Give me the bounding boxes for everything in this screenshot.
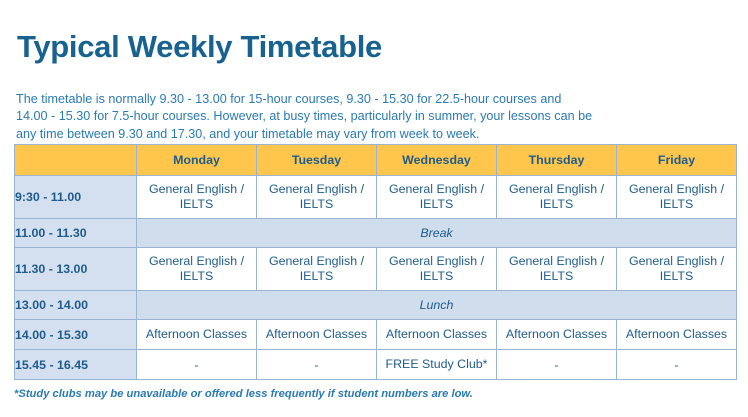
header-day-wednesday: Wednesday — [377, 145, 497, 176]
header-day-tuesday: Tuesday — [257, 145, 377, 176]
cell-tuesday: General English / IELTS — [257, 248, 377, 291]
row-time-label: 11.00 - 11.30 — [15, 219, 137, 248]
header-day-monday: Monday — [137, 145, 257, 176]
cell-wednesday: FREE Study Club* — [377, 350, 497, 380]
table-row: 13.00 - 14.00 Lunch — [15, 291, 737, 320]
table-row: 14.00 - 15.30 Afternoon Classes Afternoo… — [15, 320, 737, 350]
intro-line-3: any time between 9.30 and 17.30, and you… — [16, 126, 656, 144]
header-day-friday: Friday — [617, 145, 737, 176]
cell-monday: Afternoon Classes — [137, 320, 257, 350]
cell-friday: - — [617, 350, 737, 380]
cell-friday: General English / IELTS — [617, 176, 737, 219]
row-time-label: 13.00 - 14.00 — [15, 291, 137, 320]
row-time-label: 11.30 - 13.00 — [15, 248, 137, 291]
row-time-label: 15.45 - 16.45 — [15, 350, 137, 380]
intro-paragraph: The timetable is normally 9.30 - 13.00 f… — [16, 91, 656, 144]
page-title: Typical Weekly Timetable — [17, 29, 382, 65]
timetable-page: Typical Weekly Timetable The timetable i… — [0, 0, 748, 417]
table-row: 15.45 - 16.45 - - FREE Study Club* - - — [15, 350, 737, 380]
intro-line-1: The timetable is normally 9.30 - 13.00 f… — [16, 91, 656, 109]
row-time-label: 14.00 - 15.30 — [15, 320, 137, 350]
cell-thursday: Afternoon Classes — [497, 320, 617, 350]
header-corner-cell — [15, 145, 137, 176]
cell-thursday: General English / IELTS — [497, 248, 617, 291]
cell-tuesday: General English / IELTS — [257, 176, 377, 219]
cell-wednesday: Afternoon Classes — [377, 320, 497, 350]
intro-line-2: 14.00 - 15.30 for 7.5-hour courses. Howe… — [16, 108, 656, 126]
header-day-thursday: Thursday — [497, 145, 617, 176]
row-time-label: 9:30 - 11.00 — [15, 176, 137, 219]
table-row: 9:30 - 11.00 General English / IELTS Gen… — [15, 176, 737, 219]
cell-friday: Afternoon Classes — [617, 320, 737, 350]
footnote: *Study clubs may be unavailable or offer… — [14, 388, 473, 400]
timetable-body: 9:30 - 11.00 General English / IELTS Gen… — [15, 176, 737, 380]
cell-friday: General English / IELTS — [617, 248, 737, 291]
cell-thursday: - — [497, 350, 617, 380]
cell-thursday: General English / IELTS — [497, 176, 617, 219]
timetable-header-row: Monday Tuesday Wednesday Thursday Friday — [15, 145, 737, 176]
cell-tuesday: Afternoon Classes — [257, 320, 377, 350]
timetable-container: Monday Tuesday Wednesday Thursday Friday… — [14, 144, 736, 380]
cell-lunch-span: Lunch — [137, 291, 737, 320]
timetable-head: Monday Tuesday Wednesday Thursday Friday — [15, 145, 737, 176]
cell-monday: General English / IELTS — [137, 176, 257, 219]
cell-monday: General English / IELTS — [137, 248, 257, 291]
weekly-timetable: Monday Tuesday Wednesday Thursday Friday… — [14, 144, 737, 380]
cell-break-span: Break — [137, 219, 737, 248]
cell-wednesday: General English / IELTS — [377, 176, 497, 219]
table-row: 11.30 - 13.00 General English / IELTS Ge… — [15, 248, 737, 291]
cell-wednesday: General English / IELTS — [377, 248, 497, 291]
table-row: 11.00 - 11.30 Break — [15, 219, 737, 248]
cell-tuesday: - — [257, 350, 377, 380]
cell-monday: - — [137, 350, 257, 380]
